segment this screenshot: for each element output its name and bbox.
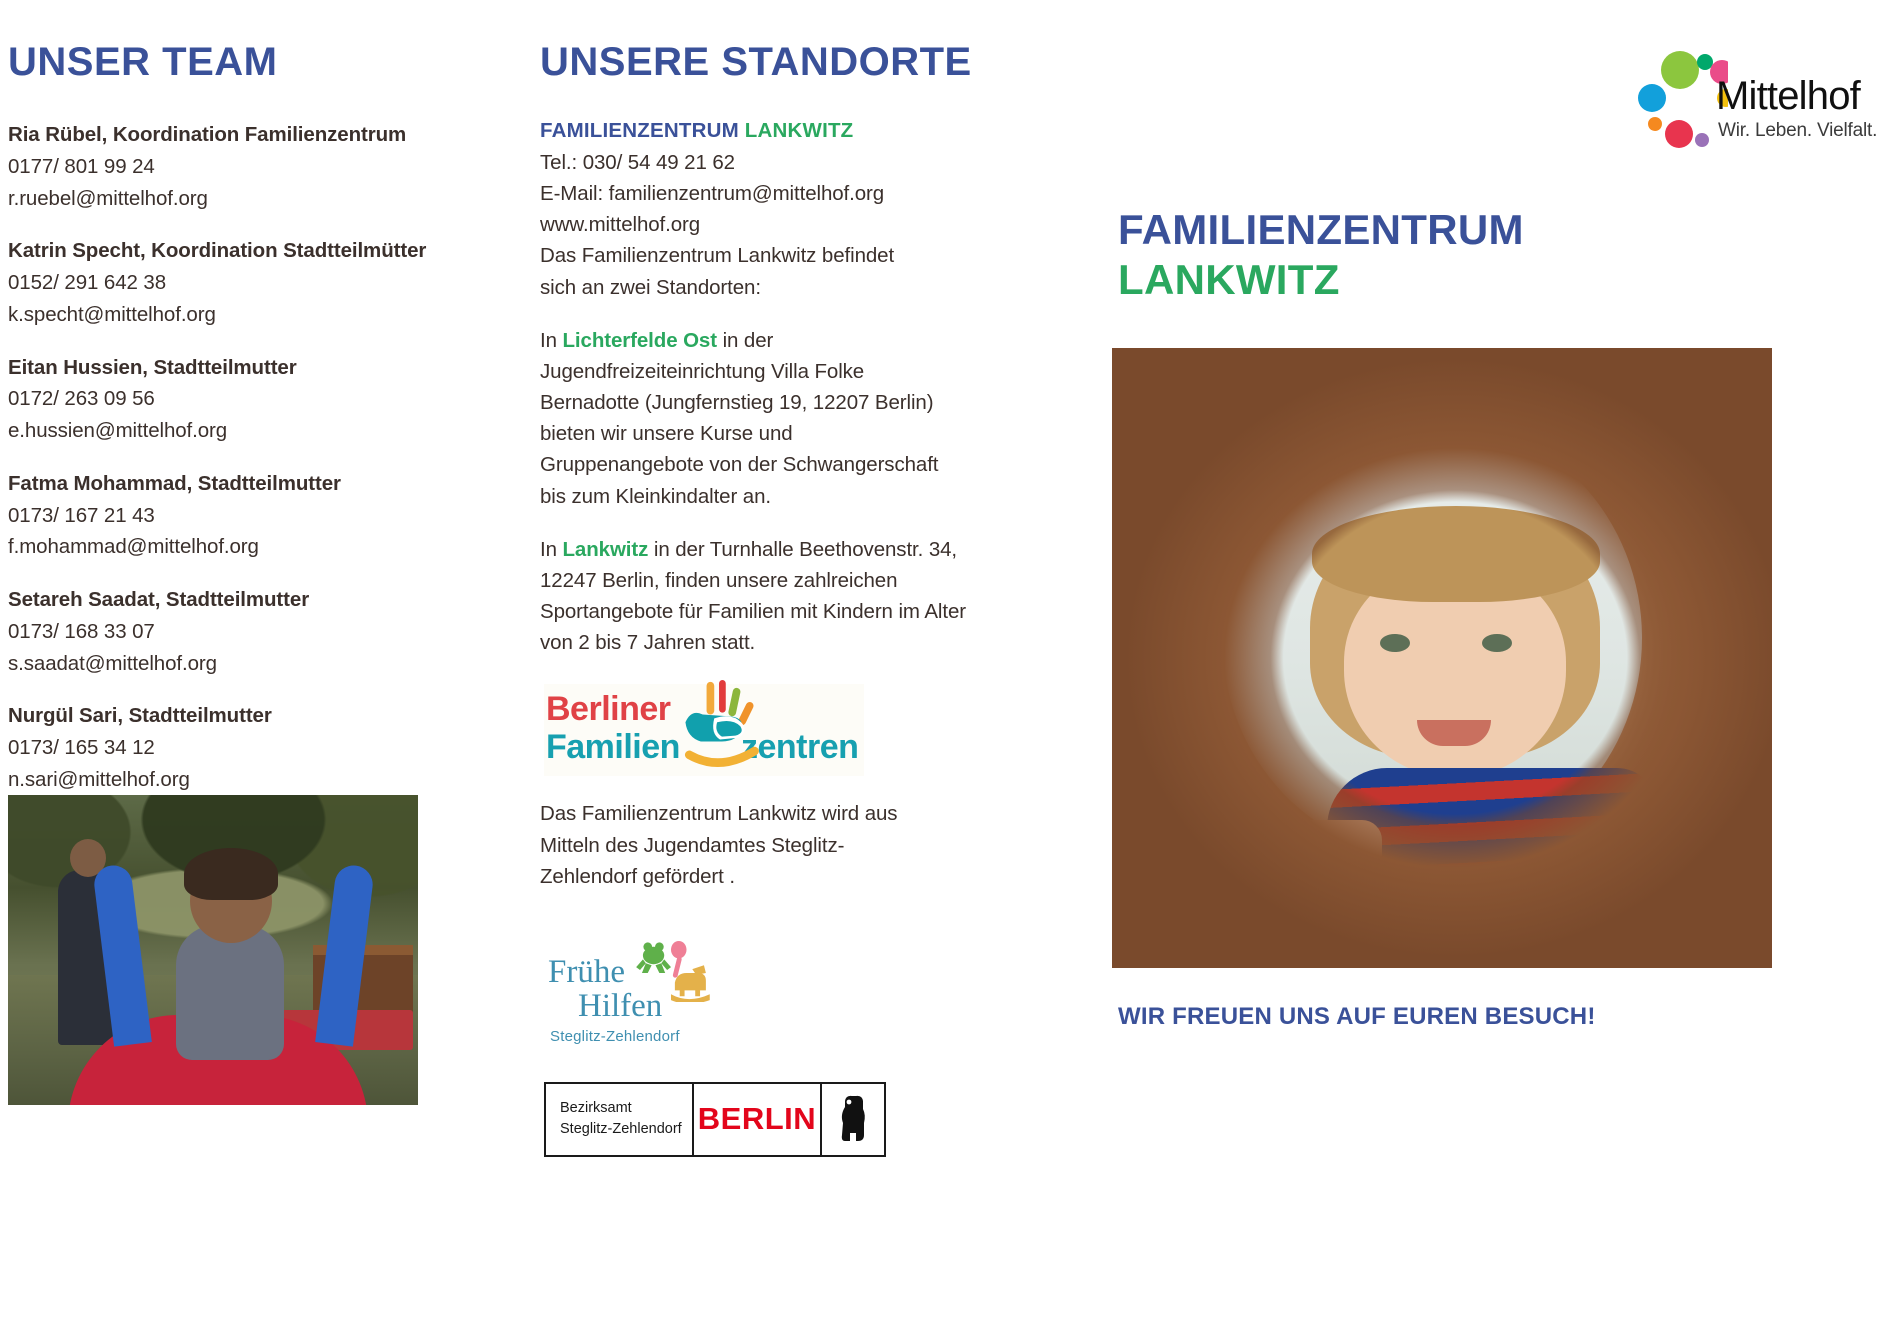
berlin-bear-icon: [836, 1093, 870, 1145]
cover-title-blue: FAMILIENZENTRUM: [1118, 206, 1524, 253]
photo-child-hair: [184, 848, 278, 900]
mittelhof-dots-icon: [1638, 48, 1728, 148]
para2-highlight: Lankwitz: [563, 538, 649, 561]
frog-horse-rattle-icon: [632, 940, 710, 1002]
team-member: Katrin Specht, Koordination Stadtteilmüt…: [8, 235, 528, 330]
bezirksamt-line-1: Bezirksamt: [560, 1100, 632, 1116]
team-member: Fatma Mohammad, Stadtteilmutter 0173/ 16…: [8, 468, 528, 563]
berlin-bear-cell: [822, 1084, 884, 1155]
fh-word-fruehe: Frühe: [548, 954, 625, 991]
para1-line: Gruppenangebote von der Schwangerschaft: [540, 449, 1050, 480]
team-member: Ria Rübel, Koordination Familienzentrum …: [8, 119, 528, 214]
cover-footer-text: WIR FREUEN UNS AUF EUREN BESUCH!: [1118, 1003, 1596, 1031]
team-heading: UNSER TEAM: [8, 40, 528, 85]
bezirksamt-line-2: Steglitz-Zehlendorf: [560, 1121, 682, 1137]
team-member: Eitan Hussien, Stadtteilmutter 0172/ 263…: [8, 352, 528, 447]
bezirksamt-text: Bezirksamt Steglitz-Zehlendorf: [560, 1098, 682, 1140]
member-name: Setareh Saadat, Stadtteilmutter: [8, 584, 528, 616]
member-email: r.ruebel@mittelhof.org: [8, 183, 528, 215]
handprint-icon: [672, 680, 768, 776]
locations-heading: UNSERE STANDORTE: [540, 40, 1050, 85]
cover-title-green: LANKWITZ: [1118, 255, 1524, 305]
para2-pre: In: [540, 538, 563, 561]
berlin-wordmark: BERLIN: [698, 1101, 816, 1137]
locations-subtitle: FAMILIENZENTRUM LANKWITZ: [540, 119, 1050, 143]
cover-title: FAMILIENZENTRUM LANKWITZ: [1118, 205, 1524, 304]
mittelhof-wordmark: Mittelhof: [1716, 74, 1860, 119]
member-email: e.hussien@mittelhof.org: [8, 415, 528, 447]
cover-column: Mittelhof Wir. Leben. Vielfalt. FAMILIEN…: [1100, 0, 1900, 1343]
mittelhof-tagline: Wir. Leben. Vielfalt.: [1718, 120, 1877, 142]
para1-line: bis zum Kleinkindalter an.: [540, 481, 1050, 512]
berlin-wordmark-cell: BERLIN: [694, 1084, 822, 1155]
member-email: f.mohammad@mittelhof.org: [8, 531, 528, 563]
cover-tunnel-ring: [1112, 348, 1772, 968]
member-phone: 0152/ 291 642 38: [8, 267, 528, 299]
funding-text: Das Familienzentrum Lankwitz wird aus Mi…: [540, 798, 1050, 891]
member-email: k.specht@mittelhof.org: [8, 299, 528, 331]
contact-website[interactable]: www.mittelhof.org: [540, 209, 1050, 240]
para2-line: Sportangebote für Familien mit Kindern i…: [540, 596, 1050, 627]
location-paragraph-lichterfelde: In Lichterfelde Ost in der Jugendfreizei…: [540, 325, 1050, 512]
para1-highlight: Lichterfelde Ost: [563, 329, 717, 352]
cover-photo: [1112, 348, 1772, 968]
member-name: Fatma Mohammad, Stadtteilmutter: [8, 468, 528, 500]
team-member: Setareh Saadat, Stadtteilmutter 0173/ 16…: [8, 584, 528, 679]
bfz-word-familien: Familien: [546, 728, 680, 767]
member-email: n.sari@mittelhof.org: [8, 764, 528, 796]
member-phone: 0173/ 167 21 43: [8, 500, 528, 532]
member-phone: 0173/ 165 34 12: [8, 732, 528, 764]
fruehe-hilfen-logo: Frühe Hilfen Steglitz-Zehlendorf: [548, 940, 713, 1050]
para1-line: Jugendfreizeiteinrichtung Villa Folke: [540, 356, 1050, 387]
para2-line: 12247 Berlin, finden unsere zahlreichen: [540, 565, 1050, 596]
mittelhof-logo: Mittelhof Wir. Leben. Vielfalt.: [1638, 48, 1888, 153]
photo-child-body: [176, 925, 284, 1060]
subtitle-familienzentrum: FAMILIENZENTRUM: [540, 119, 739, 142]
funding-line: Mitteln des Jugendamtes Steglitz-: [540, 830, 1050, 861]
para2-first-line: In Lankwitz in der Turnhalle Beethovenst…: [540, 534, 1050, 565]
para1-line: Bernadotte (Jungfernstieg 19, 12207 Berl…: [540, 387, 1050, 418]
member-name: Nurgül Sari, Stadtteilmutter: [8, 700, 528, 732]
member-name: Katrin Specht, Koordination Stadtteilmüt…: [8, 235, 528, 267]
para2-line: von 2 bis 7 Jahren statt.: [540, 627, 1050, 658]
team-column: UNSER TEAM Ria Rübel, Koordination Famil…: [8, 40, 528, 817]
intro-line-1: Das Familienzentrum Lankwitz befindet: [540, 240, 1050, 271]
bfz-word-berliner: Berliner: [546, 690, 671, 729]
para2-post: in der Turnhalle Beethovenstr. 34,: [648, 538, 957, 561]
para1-line: bieten wir unsere Kurse und: [540, 418, 1050, 449]
funding-line: Zehlendorf gefördert .: [540, 861, 1050, 892]
bezirksamt-berlin-bar: Bezirksamt Steglitz-Zehlendorf BERLIN: [544, 1082, 886, 1157]
berliner-familienzentren-logo: Berliner Familien zentren: [544, 684, 864, 776]
member-phone: 0173/ 168 33 07: [8, 616, 528, 648]
team-member: Nurgül Sari, Stadtteilmutter 0173/ 165 3…: [8, 700, 528, 795]
member-phone: 0172/ 263 09 56: [8, 383, 528, 415]
member-email: s.saadat@mittelhof.org: [8, 648, 528, 680]
member-name: Ria Rübel, Koordination Familienzentrum: [8, 119, 528, 151]
brochure-page: UNSER TEAM Ria Rübel, Koordination Famil…: [0, 0, 1900, 1343]
location-paragraph-lankwitz: In Lankwitz in der Turnhalle Beethovenst…: [540, 534, 1050, 659]
fh-district: Steglitz-Zehlendorf: [550, 1028, 680, 1045]
member-phone: 0177/ 801 99 24: [8, 151, 528, 183]
para1-pre: In: [540, 329, 563, 352]
funding-line: Das Familienzentrum Lankwitz wird aus: [540, 798, 1050, 829]
playground-photo: [8, 795, 418, 1105]
contact-email: E-Mail: familienzentrum@mittelhof.org: [540, 178, 1050, 209]
para1-first-line: In Lichterfelde Ost in der: [540, 325, 1050, 356]
subtitle-lankwitz: LANKWITZ: [745, 119, 854, 142]
intro-line-2: sich an zwei Standorten:: [540, 272, 1050, 303]
member-name: Eitan Hussien, Stadtteilmutter: [8, 352, 528, 384]
bezirksamt-cell: Bezirksamt Steglitz-Zehlendorf: [546, 1084, 694, 1155]
locations-column: UNSERE STANDORTE FAMILIENZENTRUM LANKWIT…: [540, 40, 1050, 1157]
contact-tel: Tel.: 030/ 54 49 21 62: [540, 147, 1050, 178]
para1-post: in der: [717, 329, 773, 352]
